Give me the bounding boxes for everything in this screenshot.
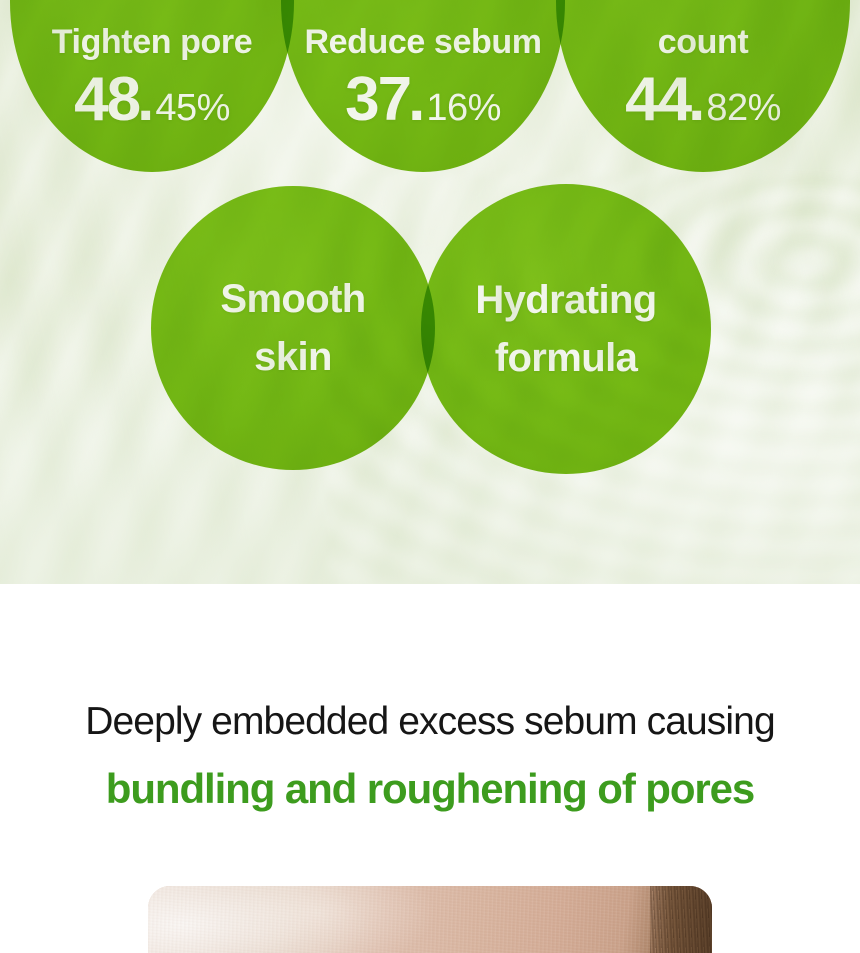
stat-integer: 44 xyxy=(625,69,690,131)
benefit-bubble-label: Hydrating formula xyxy=(461,271,670,387)
stat-decimal: 45% xyxy=(155,89,230,127)
stat-separator: . xyxy=(137,69,154,131)
stat-bubble-value: 44 . 82% xyxy=(625,69,781,131)
benefit-line-2: formula xyxy=(475,329,656,387)
benefit-line-1: Hydrating xyxy=(475,271,656,329)
hero-panel: Tighten pore 48 . 45% Reduce sebum 37 . … xyxy=(0,0,860,584)
infographic-page: Tighten pore 48 . 45% Reduce sebum 37 . … xyxy=(0,0,860,953)
skin-photo-texture xyxy=(148,886,712,953)
benefit-line-1: Smooth xyxy=(220,270,365,328)
stat-separator: . xyxy=(688,69,705,131)
stat-bubble-value: 48 . 45% xyxy=(74,69,230,131)
stat-separator: . xyxy=(408,69,425,131)
benefit-line-2: skin xyxy=(220,328,365,386)
stat-integer: 48 xyxy=(74,69,139,131)
stat-decimal: 82% xyxy=(706,89,781,127)
skin-photo-hair xyxy=(650,886,712,953)
copy-block: Deeply embedded excess sebum causing bun… xyxy=(0,584,860,812)
stat-bubble-value: 37 . 16% xyxy=(345,69,501,131)
benefit-bubble-smooth-skin: Smooth skin xyxy=(151,186,435,470)
stat-bubble-title: Reduce sebum xyxy=(290,23,555,62)
stat-decimal: 16% xyxy=(426,89,501,127)
stat-bubble-title: Tighten pore xyxy=(38,23,266,62)
copy-headline: bundling and roughening of pores xyxy=(0,744,860,812)
skin-photo xyxy=(148,886,712,953)
stat-integer: 37 xyxy=(345,69,410,131)
copy-subheadline: Deeply embedded excess sebum causing xyxy=(0,584,860,744)
benefit-bubble-label: Smooth skin xyxy=(206,270,379,386)
benefit-bubble-hydrating-formula: Hydrating formula xyxy=(421,184,711,474)
stat-bubble-title: count xyxy=(644,23,763,62)
